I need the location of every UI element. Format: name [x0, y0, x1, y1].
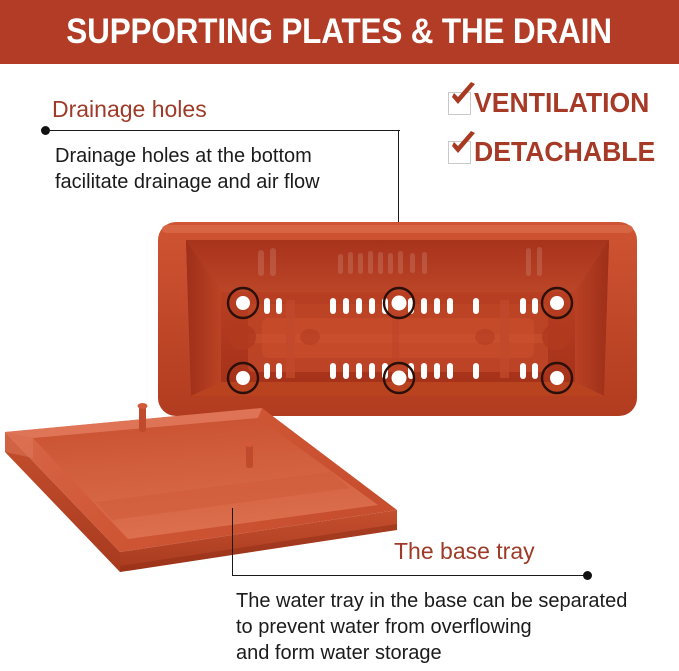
callout-body-line: The water tray in the base can be separa…	[236, 588, 627, 614]
callout-body-line: facilitate drainage and air flow	[55, 169, 320, 195]
callout-body-line: Drainage holes at the bottom	[55, 143, 320, 169]
callout-leader-line-bottom-vertical	[232, 508, 233, 576]
header-banner: SUPPORTING PLATES & THE DRAIN	[0, 0, 679, 64]
checkbox-checked-icon	[448, 141, 471, 164]
callout-leader-line-top-horizontal	[45, 130, 400, 131]
feature-label-ventilation: VENTILATION	[474, 87, 649, 119]
feature-item-detachable: DETACHABLE	[448, 134, 673, 170]
callout-title-drainage-holes: Drainage holes	[52, 96, 207, 123]
base-tray	[5, 403, 397, 572]
product-photo-svg	[0, 200, 679, 580]
callout-body-drainage-holes: Drainage holes at the bottom facilitate …	[55, 143, 320, 195]
tray-post	[138, 403, 148, 432]
feature-label-detachable: DETACHABLE	[474, 136, 655, 168]
callout-body-base-tray: The water tray in the base can be separa…	[236, 588, 627, 666]
callout-leader-line-bottom-horizontal	[232, 575, 587, 576]
feature-item-ventilation: VENTILATION	[448, 85, 673, 121]
tray-post	[245, 441, 255, 468]
product-illustration	[0, 200, 679, 580]
callout-body-line: and form water storage	[236, 640, 627, 666]
callout-leader-dot-bottom	[583, 571, 592, 580]
planter-box	[158, 222, 637, 416]
callout-body-line: to prevent water from overflowing	[236, 614, 627, 640]
checkbox-checked-icon	[448, 92, 471, 115]
page-title: SUPPORTING PLATES & THE DRAIN	[67, 12, 612, 52]
feature-list: VENTILATION DETACHABLE	[448, 85, 673, 183]
callout-title-base-tray: The base tray	[394, 538, 535, 565]
